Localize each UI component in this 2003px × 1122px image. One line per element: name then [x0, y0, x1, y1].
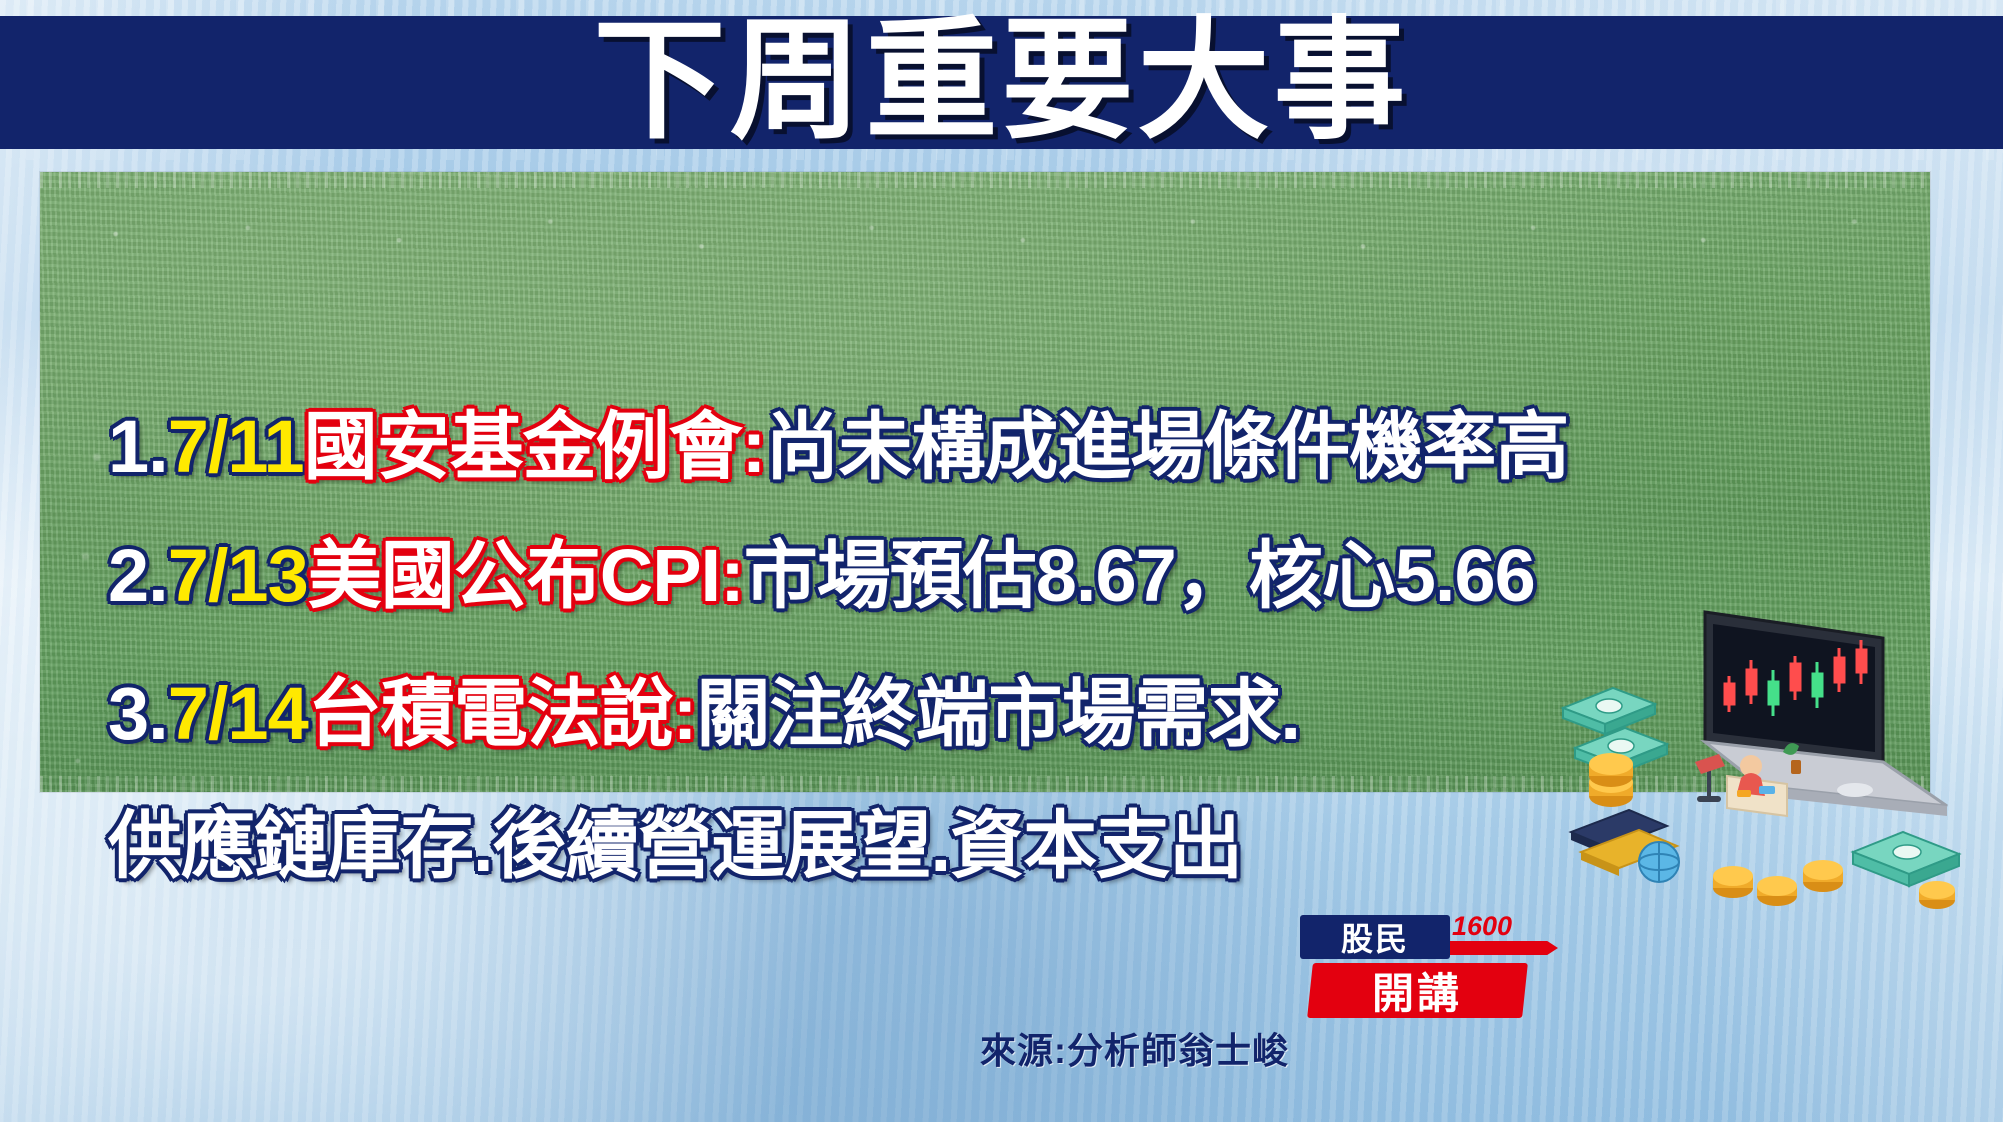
title-bar: 下周重要大事 — [0, 16, 2003, 149]
logo-bottom-text: 開講 — [1372, 960, 1462, 1021]
line1-index: 1. — [108, 405, 168, 488]
line4-detail: 供應鏈庫存.後續營運展望.資本支出 — [108, 804, 1242, 887]
logo-bottom-block: 開講 — [1307, 963, 1528, 1018]
coin-single-right — [1919, 881, 1955, 909]
list-item: 1.7/11國安基金例會:尚未構成進場條件機率高 — [108, 410, 1568, 484]
line3-date: 7/14 — [168, 672, 308, 755]
list-item: 2.7/13美國公布CPI:市場預估8.67，核心5.66 — [108, 539, 1535, 613]
coin-stack-left — [1589, 753, 1633, 807]
cash-stack-right — [1853, 832, 1959, 886]
globe-icon — [1639, 842, 1679, 882]
line3-topic: 台積電法說: — [308, 672, 697, 755]
show-logo: 股民 1600 開講 — [1300, 915, 1565, 1020]
logo-channel-number: 1600 — [1452, 911, 1512, 942]
line1-date: 7/11 — [168, 405, 304, 488]
line3-index: 3. — [108, 672, 168, 755]
line3-detail: 關注終端市場需求. — [696, 672, 1300, 755]
line2-index: 2. — [108, 534, 168, 617]
coin-pile-right — [1713, 860, 1843, 906]
list-item: 供應鏈庫存.後續營運展望.資本支出 — [108, 809, 1242, 883]
line2-detail: 市場預估8.67，核心5.66 — [744, 534, 1535, 617]
page-title: 下周重要大事 — [594, 15, 1410, 147]
list-item: 3.7/14台積電法說:關注終端市場需求. — [108, 677, 1300, 751]
line1-topic: 國安基金例會: — [304, 405, 766, 488]
logo-top-block: 股民 — [1300, 915, 1450, 959]
desk-lamp — [1695, 754, 1725, 802]
logo-top-text: 股民 — [1341, 914, 1409, 960]
line1-detail: 尚未構成進場條件機率高 — [765, 405, 1568, 488]
line2-topic: 美國公布CPI: — [308, 534, 744, 617]
logo-arrow-icon — [1450, 941, 1558, 955]
isometric-laptop-illustration — [1555, 600, 1985, 920]
line2-date: 7/13 — [168, 534, 308, 617]
source-credit: 來源:分析師翁士峻 — [980, 1022, 1289, 1074]
